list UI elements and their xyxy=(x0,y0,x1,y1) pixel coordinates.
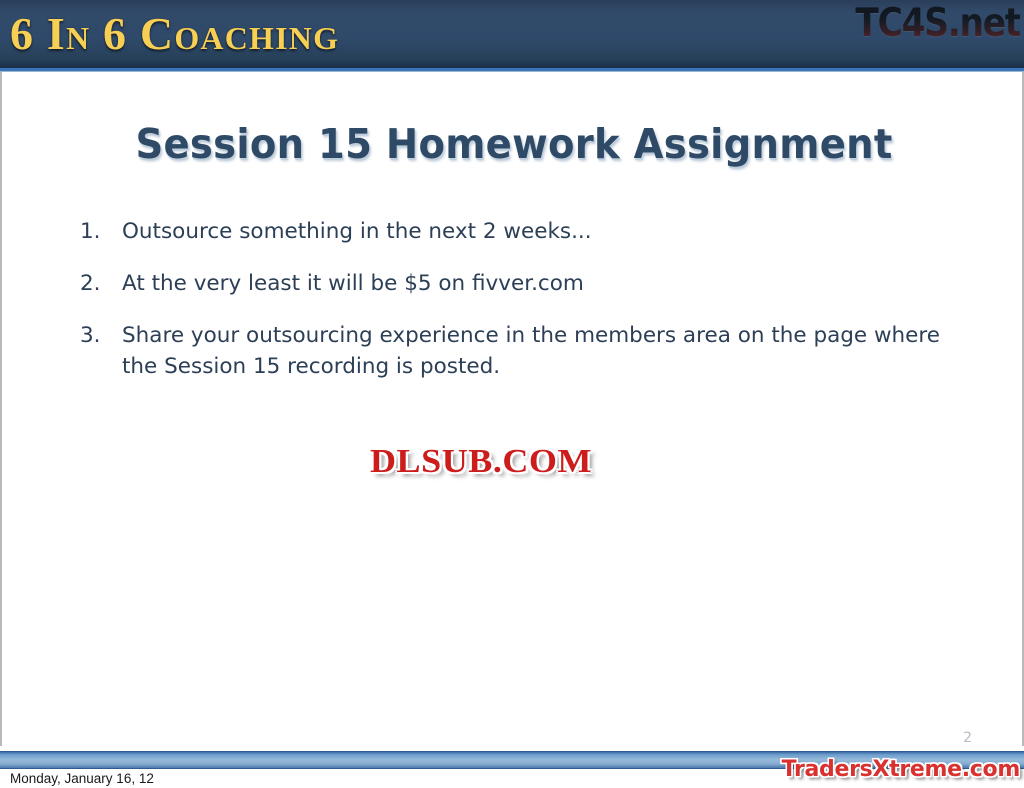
list-item-text: Share your outsourcing experience in the… xyxy=(122,320,980,384)
tc4s-logo: TC4S.net xyxy=(855,1,1020,46)
brand-title: 6 In 6 Coaching xyxy=(10,5,339,63)
homework-list: 1. Outsource something in the next 2 wee… xyxy=(80,216,980,403)
list-item: 2. At the very least it will be $5 on fi… xyxy=(80,268,980,300)
list-item-number: 2. xyxy=(80,268,110,300)
list-item-number: 3. xyxy=(80,320,110,352)
header-banner: 6 In 6 Coaching TC4S.net xyxy=(0,0,1024,68)
page-title: Session 15 Homework Assignment xyxy=(33,120,996,168)
list-item: 1. Outsource something in the next 2 wee… xyxy=(80,216,980,248)
slide-content-frame: Session 15 Homework Assignment 1. Outsou… xyxy=(0,72,1024,746)
list-item-text: Outsource something in the next 2 weeks.… xyxy=(122,216,980,248)
dlsub-watermark: DLSUB.COM xyxy=(370,443,592,481)
slide-canvas: 6 In 6 Coaching TC4S.net Session 15 Home… xyxy=(0,0,1024,788)
footer-date: Monday, January 16, 12 xyxy=(10,771,154,786)
list-item-number: 1. xyxy=(80,216,110,248)
list-item-text: At the very least it will be $5 on fivve… xyxy=(122,268,980,300)
list-item: 3. Share your outsourcing experience in … xyxy=(80,320,980,384)
tradersxtreme-watermark: TradersXtreme.com xyxy=(782,757,1020,782)
page-number: 2 xyxy=(963,730,972,746)
